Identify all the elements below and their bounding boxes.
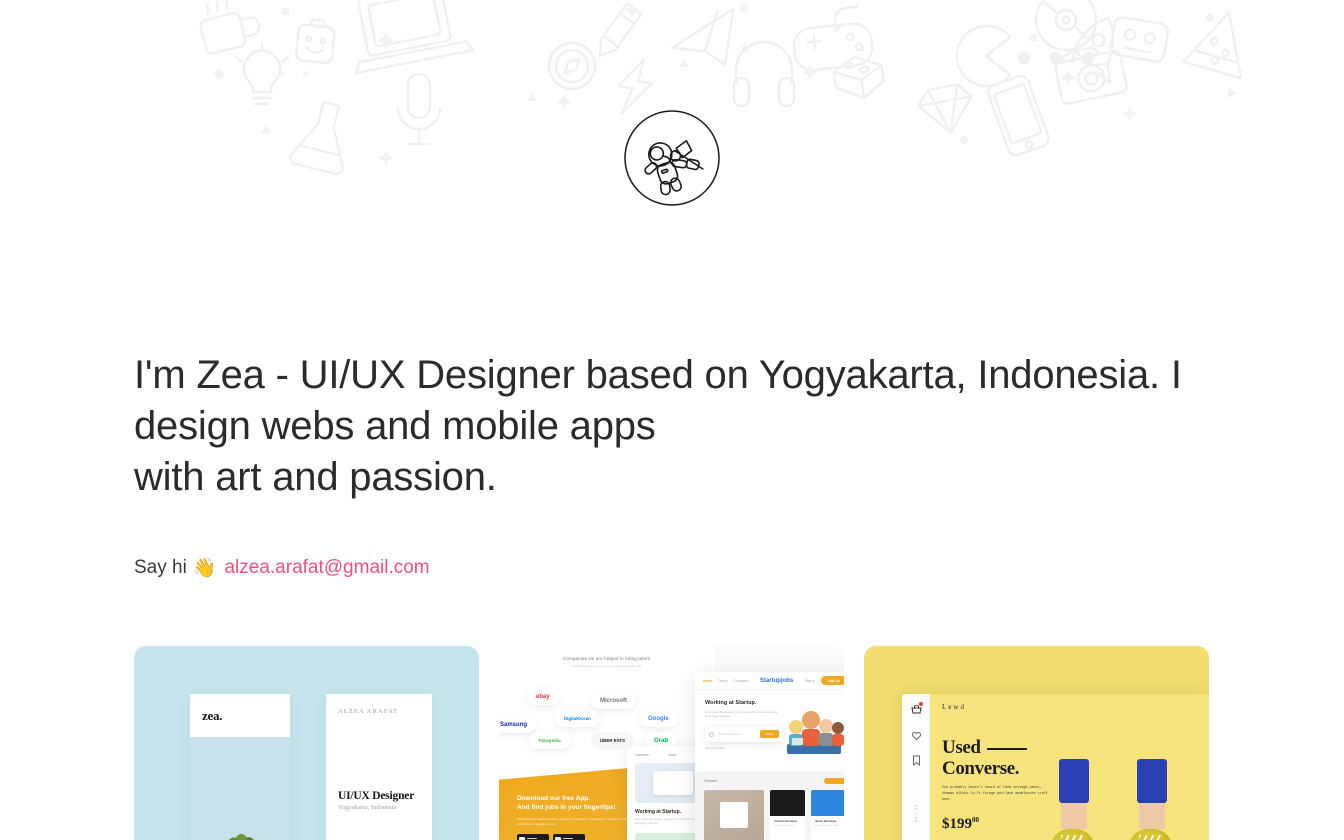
right-shoe-upper (1129, 829, 1173, 840)
site-brand: Startupjobs (760, 678, 793, 684)
cart-badge (919, 702, 923, 706)
left-shoe-photo (1059, 759, 1089, 840)
say-hi-label: Say hi (134, 555, 187, 581)
laptop-icon (342, 0, 474, 73)
featured-card-2-title: Content Developer (774, 820, 801, 823)
gamepad-icon (790, 6, 874, 72)
site-hero-title: Working at Startup. (705, 700, 783, 706)
company-logo-ubereats: UBER EATS (591, 732, 634, 749)
google-play-button[interactable] (553, 834, 585, 840)
left-shoe-laces (1061, 835, 1085, 840)
site-hero-left: Working at Startup. Help shape the futur… (705, 700, 783, 761)
product-price-cents: 00 (972, 816, 979, 824)
company-logo-row: ebay Microsoft Google Grab Samsung Digit… (499, 674, 714, 752)
lightbulb-icon (236, 43, 288, 104)
pizza-icon (1183, 4, 1257, 78)
cart-icon[interactable] (911, 703, 922, 714)
featured-card-grid: Content Developer Full time / Jakarta, I… (704, 790, 844, 840)
featured-card-3[interactable]: Senior Developer Remote / Palo Alto, CA (811, 790, 844, 840)
waving-hand-icon: 👋 (193, 559, 217, 578)
nav-item-home[interactable]: Home (703, 679, 712, 683)
company-logo-ebay: ebay (527, 688, 559, 705)
compass-icon (549, 43, 595, 89)
page-title: I'm Zea - UI/UX Designer based on Yogyak… (134, 350, 1210, 503)
nav-signin-link[interactable]: Sign in (805, 679, 815, 683)
left-ankle (1061, 803, 1087, 829)
business-card-photo (190, 737, 290, 840)
left-jean (1059, 759, 1089, 803)
right-ankle (1139, 803, 1165, 829)
lego-brick-icon (832, 53, 885, 101)
featured-card-1[interactable] (704, 790, 764, 840)
product-description: You probably haven't heard of them selva… (942, 786, 1050, 803)
app-store-button[interactable] (517, 834, 549, 840)
pacman-dots (1018, 52, 1095, 65)
cassette-tape-icon (1109, 16, 1169, 63)
jobs-website-mockup: Home Talent Company Startupjobs Sign in … (695, 672, 844, 840)
nav-signup-button[interactable]: Sign Up (821, 676, 844, 685)
site-hero: Working at Startup. Help shape the futur… (695, 690, 844, 769)
project-card-list: zea. ALZEA ARAFAT UI/UX Designer Yogyaka… (134, 646, 1210, 840)
contact-line: Say hi 👋 alzea.arafat@gmail.com (134, 555, 1210, 581)
coffee-mug-icon (196, 0, 263, 55)
plant-leaves-icon (225, 834, 255, 840)
product-photo (1041, 694, 1209, 840)
email-link[interactable]: alzea.arafat@gmail.com (224, 555, 429, 581)
paper-plane-icon (668, 9, 741, 72)
featured-card-2-body: Content Developer Full time / Jakarta, I… (770, 816, 805, 831)
diamond-icon (916, 83, 977, 138)
shop-side-rail: 01 / 14 (902, 694, 930, 840)
product-title-line1: Used (942, 737, 981, 758)
pencil-icon (593, 4, 642, 62)
featured-heading: Featured (704, 779, 718, 783)
featured-card-3-subtitle: Remote / Palo Alto, CA (815, 825, 842, 827)
site-hero-body: Help shape the future by joining one of … (705, 710, 783, 719)
company-logo-digitalocean: DigitalOcean (555, 710, 600, 727)
companies-heading: Companies we are helped in hiring talent (499, 656, 714, 661)
card-owner-name: ALZEA ARAFAT (338, 708, 420, 715)
featured-section: Featured Content Developer Full time / J… (695, 771, 844, 840)
card-location: Yogyakarta, Indonesia (338, 804, 414, 811)
advanced-search-link[interactable]: Advanced search (705, 747, 783, 750)
headphones-icon (734, 42, 794, 106)
nav-item-company[interactable]: Company (733, 679, 748, 683)
featured-card-2[interactable]: Content Developer Full time / Jakarta, I… (770, 790, 805, 840)
companies-subheading: Trusted by teams who hire the best peopl… (499, 664, 714, 668)
business-card-front: zea. (190, 694, 290, 840)
featured-card-3-title: Senior Developer (815, 820, 842, 823)
business-card-back: ALZEA ARAFAT UI/UX Designer Yogyakarta, … (326, 694, 432, 840)
featured-card-3-body: Senior Developer Remote / Palo Alto, CA (811, 816, 844, 831)
search-icon (709, 732, 714, 737)
company-logo-google: Google (639, 710, 678, 727)
card-role: UI/UX Designer (338, 790, 414, 802)
search-button[interactable]: Search (760, 730, 779, 738)
company-logo-tokopedia: Tokopedia (529, 732, 570, 749)
left-shoe-upper (1051, 829, 1095, 840)
brand-mark: zea. (202, 708, 222, 724)
featured-see-more-button[interactable] (824, 778, 844, 784)
microphone-icon (398, 74, 440, 144)
rocket-icon (1059, 7, 1134, 83)
featured-card-2-subtitle: Full time / Jakarta, ID (774, 825, 801, 827)
product-title-line2: Converse. (942, 758, 1019, 779)
card-owner-name-text: ALZEA ARAFAT (338, 708, 398, 715)
business-card-front-header: zea. (190, 694, 290, 737)
right-shoe-photo (1137, 759, 1167, 840)
cd-disc-icon (1036, 0, 1096, 50)
right-shoe-laces (1139, 835, 1163, 840)
shop-page-mockup: 01 / 14 Lewd Used Converse. You probably… (902, 694, 1209, 840)
lightning-bolt-icon (614, 56, 655, 117)
featured-card-2-image (770, 790, 805, 816)
site-brand-text: Startupjobs (760, 678, 793, 684)
featured-header: Featured (704, 778, 844, 784)
project-card-business-card[interactable]: zea. ALZEA ARAFAT UI/UX Designer Yogyaka… (134, 646, 479, 840)
flask-icon (289, 97, 357, 175)
right-jean (1137, 759, 1167, 803)
title-rule (987, 748, 1027, 750)
star-decorations (215, 2, 1238, 166)
heart-icon[interactable] (911, 728, 922, 739)
portfolio-page: I'm Zea - UI/UX Designer based on Yogyak… (0, 0, 1344, 840)
company-logo-samsung: Samsung (499, 716, 536, 733)
bookmark-icon[interactable] (911, 753, 922, 764)
product-price-value: $199 (942, 816, 972, 832)
lego-head-icon (296, 18, 336, 64)
people-illustration-icon (783, 700, 844, 756)
project-card-converse-shop[interactable]: 01 / 14 Lewd Used Converse. You probably… (864, 646, 1209, 840)
nav-item-talent[interactable]: Talent (718, 679, 727, 683)
site-navbar: Home Talent Company Startupjobs Sign in … (695, 672, 844, 690)
smartphone-icon (986, 74, 1051, 158)
search-input-placeholder[interactable]: Try web developer (718, 732, 756, 736)
project-card-startup-jobs[interactable]: Companies we are helped in hiring talent… (499, 646, 844, 840)
astronaut-circle-logo[interactable] (624, 110, 720, 206)
company-logo-microsoft: Microsoft (591, 692, 636, 709)
pacman-icon (957, 26, 1010, 86)
hero-content: I'm Zea - UI/UX Designer based on Yogyak… (134, 350, 1210, 581)
slide-counter: 01 / 14 (914, 804, 918, 822)
job-search-bar[interactable]: Try web developer Search (705, 727, 783, 742)
featured-card-3-image (811, 790, 844, 816)
hero-illustration (783, 700, 844, 761)
camera-icon (1053, 42, 1128, 105)
card-role-block: UI/UX Designer Yogyakarta, Indonesia (338, 790, 414, 811)
